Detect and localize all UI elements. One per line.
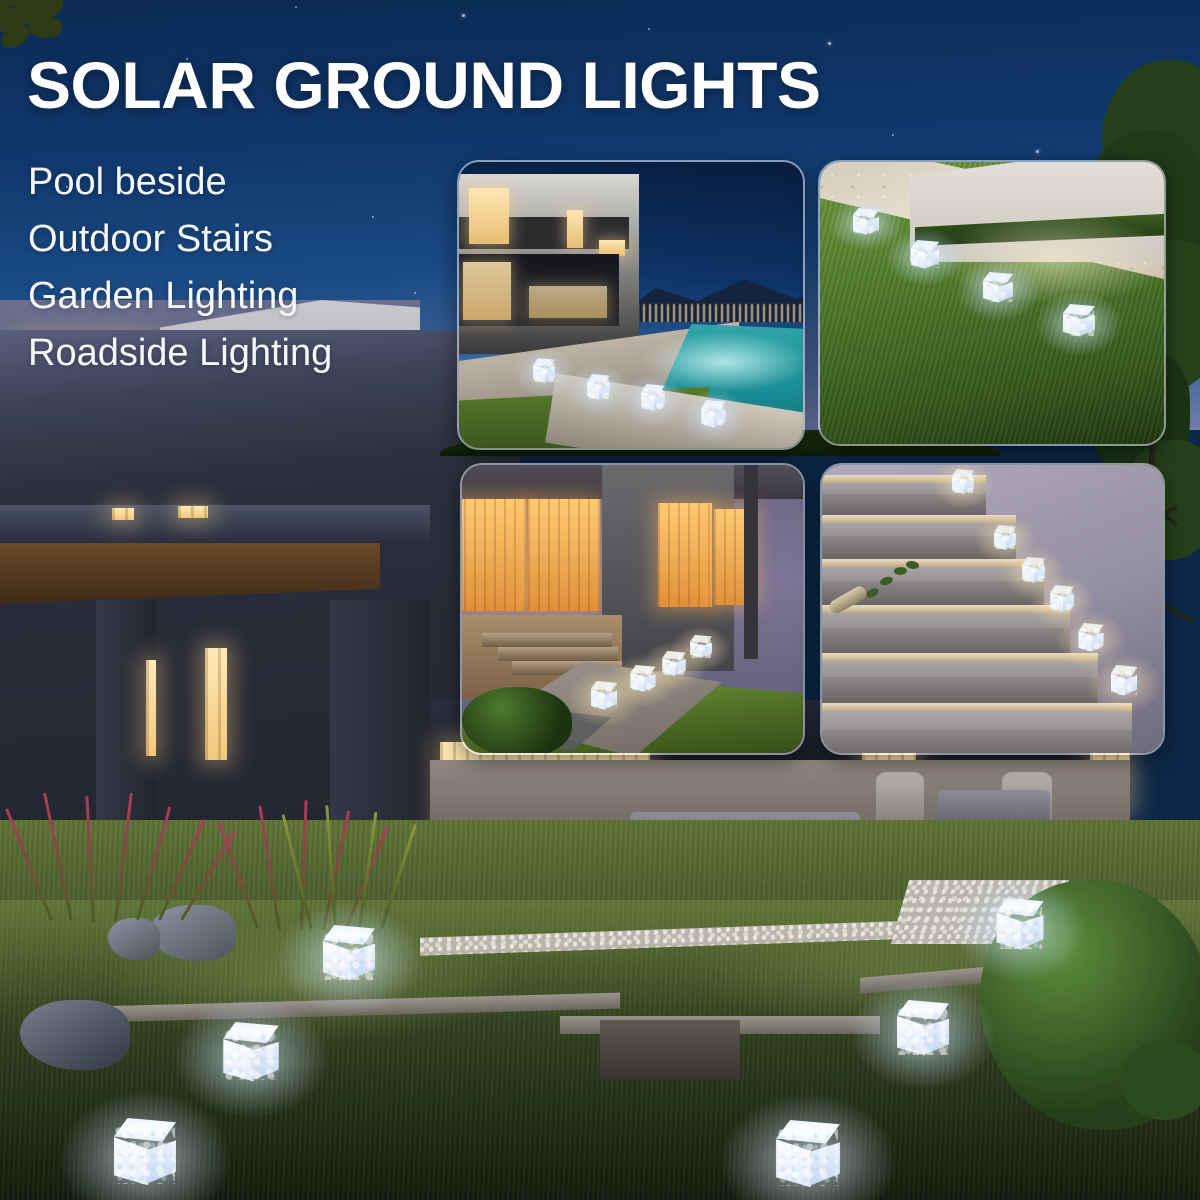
- entry-light-strip: [146, 660, 156, 756]
- solar-light-cube: [218, 1022, 284, 1084]
- solar-light-cube: [992, 898, 1048, 952]
- solar-light-cube: [1108, 665, 1140, 697]
- solar-light-cube: [908, 240, 942, 270]
- garden-shrub: [1120, 1040, 1200, 1120]
- solar-light-cube: [850, 208, 882, 236]
- solar-light-cube: [588, 681, 620, 711]
- solar-light-cube: [699, 400, 728, 429]
- inset-photo-pool[interactable]: [457, 160, 805, 450]
- solar-light-cube: [980, 272, 1016, 304]
- stair-step: [822, 703, 1132, 753]
- solar-light-cube: [585, 374, 612, 401]
- solar-light-cube: [770, 1120, 846, 1190]
- solar-light-cube: [950, 469, 976, 495]
- inset-photo-garden-path[interactable]: [818, 160, 1166, 446]
- page-title: SOLAR GROUND LIGHTS: [27, 52, 821, 118]
- soffit-light: [178, 506, 208, 518]
- solar-light-cube: [108, 1118, 182, 1188]
- stair-step: [822, 653, 1098, 703]
- feature-item-4: Roadside Lighting: [28, 325, 332, 382]
- solar-light-cube: [639, 384, 667, 412]
- solar-light-cube: [1060, 304, 1098, 338]
- entry-light-strip: [205, 648, 227, 760]
- feature-item-2: Outdoor Stairs: [28, 211, 332, 268]
- garden-rock: [108, 918, 160, 960]
- soffit-light: [112, 508, 134, 520]
- solar-light-cube: [1048, 585, 1076, 613]
- solar-light-cube: [318, 925, 380, 983]
- ornamental-grass: [40, 790, 270, 920]
- inset-photo-roadside[interactable]: [460, 463, 805, 755]
- inset-photo-outdoor-stairs[interactable]: [820, 463, 1165, 755]
- solar-light-cube: [1076, 623, 1106, 653]
- feature-list: Pool beside Outdoor Stairs Garden Lighti…: [28, 154, 332, 382]
- feature-item-1: Pool beside: [28, 154, 332, 211]
- solar-light-cube: [531, 358, 557, 384]
- lawn-curb: [600, 1020, 740, 1080]
- plant-sprig: [866, 561, 926, 611]
- product-banner: SOLAR GROUND LIGHTS Pool beside Outdoor …: [0, 0, 1200, 1200]
- feature-item-3: Garden Lighting: [28, 268, 332, 325]
- canopy-roof: [0, 505, 430, 543]
- solar-light-cube: [892, 1000, 954, 1058]
- solar-light-cube: [992, 525, 1018, 551]
